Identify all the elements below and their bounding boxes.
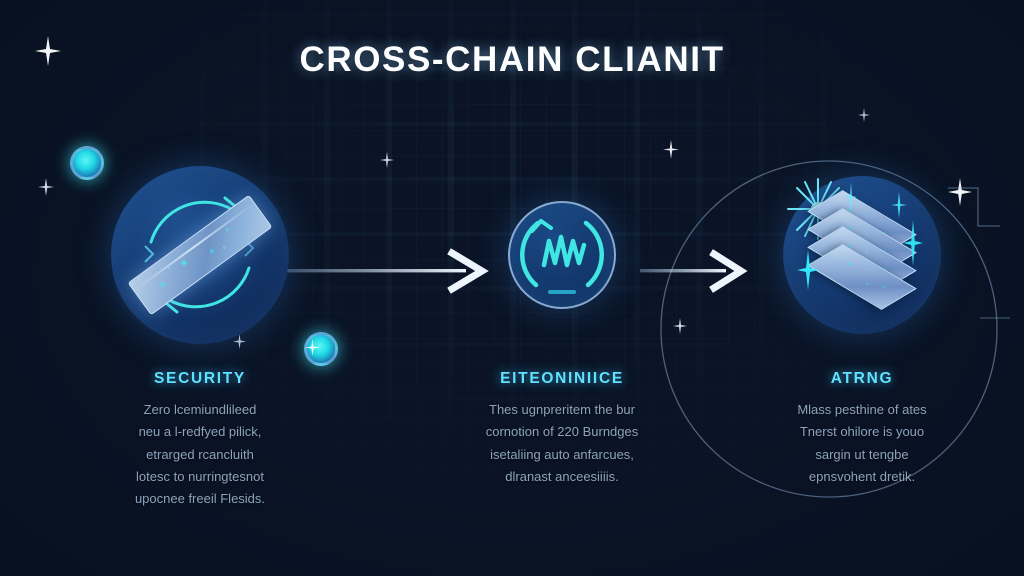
infographic-canvas: CROSS-CHAIN CLIANIT (0, 0, 1024, 576)
icon-area-eiteoniniice (427, 140, 697, 370)
waveform-glyph-icon (514, 207, 610, 303)
panel-security[interactable]: SECURITY Zero lcemiundlileed neu a l-red… (40, 140, 360, 511)
four-point-star-icon (858, 108, 870, 122)
block-stack-shape (810, 199, 914, 311)
panel-heading: SECURITY (40, 370, 360, 388)
glow-node-icon (304, 332, 338, 366)
cross-chain-bridge-icon (111, 166, 289, 344)
icon-area-security (40, 140, 360, 370)
panel-body: Zero lcemiundlileed neu a l-redfyed pili… (40, 399, 360, 511)
waveform-badge-icon (508, 201, 616, 309)
panels-row: SECURITY Zero lcemiundlileed neu a l-red… (0, 140, 1024, 520)
icon-area-atrng (727, 140, 997, 370)
panel-atrng[interactable]: ATRNG Mlass pesthine of ates Tnerst ohil… (727, 140, 997, 488)
page-title: CROSS-CHAIN CLIANIT (0, 40, 1024, 80)
glow-node-icon (70, 146, 104, 180)
layered-block-stack-icon (783, 176, 941, 334)
panel-heading: ATRNG (727, 370, 997, 388)
panel-body: Thes ugnpreritem the bur cornotion of 22… (427, 399, 697, 488)
panel-heading: EITEONINIICE (427, 370, 697, 388)
panel-body: Mlass pesthine of ates Tnerst ohilore is… (727, 399, 997, 488)
panel-eiteoniniice[interactable]: EITEONINIICE Thes ugnpreritem the bur co… (427, 140, 697, 488)
